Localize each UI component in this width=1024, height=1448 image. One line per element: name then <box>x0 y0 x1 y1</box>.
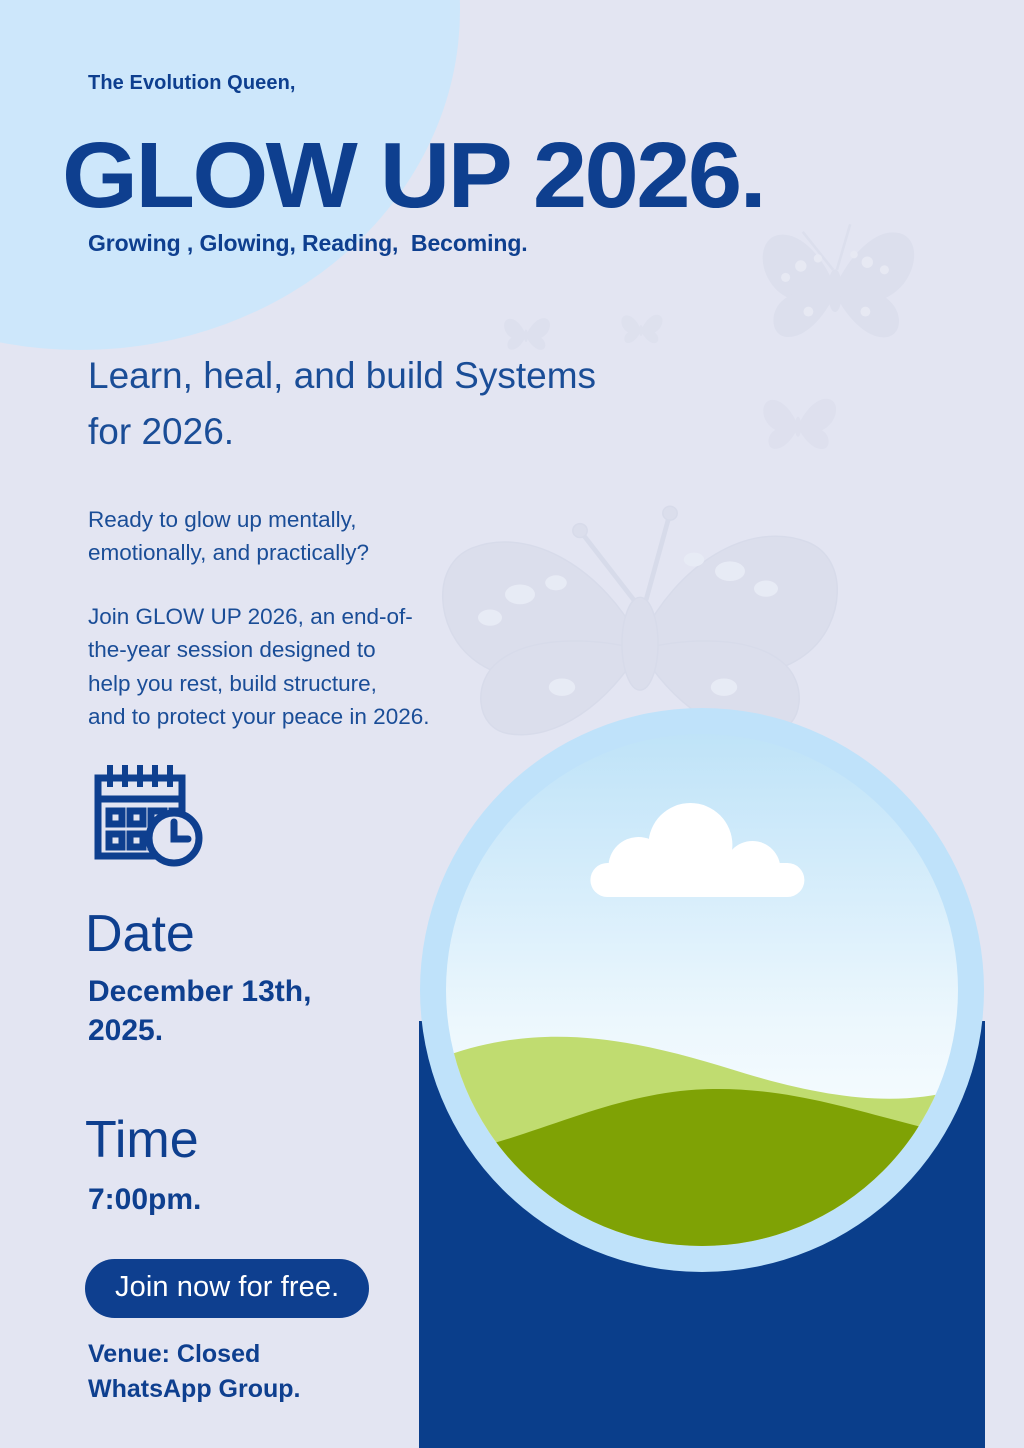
poster-canvas: The Evolution Queen, GLOW UP 2026. Growi… <box>0 0 1024 1448</box>
time-label: Time <box>85 1114 199 1166</box>
venue-info: Venue: Closed WhatsApp Group. <box>88 1337 418 1406</box>
sub-headline: Growing , Glowing, Reading, Becoming. <box>88 230 528 257</box>
join-now-button[interactable]: Join now for free. <box>85 1259 369 1318</box>
body-paragraph-1: Ready to glow up mentally, emotionally, … <box>88 503 518 570</box>
page-title: GLOW UP 2026. <box>62 131 764 220</box>
brand-kicker: The Evolution Queen, <box>88 72 296 95</box>
date-value: December 13th, 2025. <box>88 972 418 1050</box>
landscape-circle-photo <box>420 708 984 1272</box>
butterfly-icon <box>615 303 667 355</box>
body-paragraph-2: Join GLOW UP 2026, an end-of- the-year s… <box>88 600 518 733</box>
date-label: Date <box>85 908 195 960</box>
photo-inner-scene <box>446 734 958 1246</box>
time-value: 7:00pm. <box>88 1180 418 1219</box>
hills-illustration <box>446 939 958 1246</box>
butterfly-icon <box>740 190 930 380</box>
calendar-clock-icon <box>85 758 205 870</box>
cloud-icon <box>582 801 812 906</box>
lead-statement: Learn, heal, and build Systems for 2026. <box>88 348 608 459</box>
butterfly-icon <box>752 378 844 470</box>
